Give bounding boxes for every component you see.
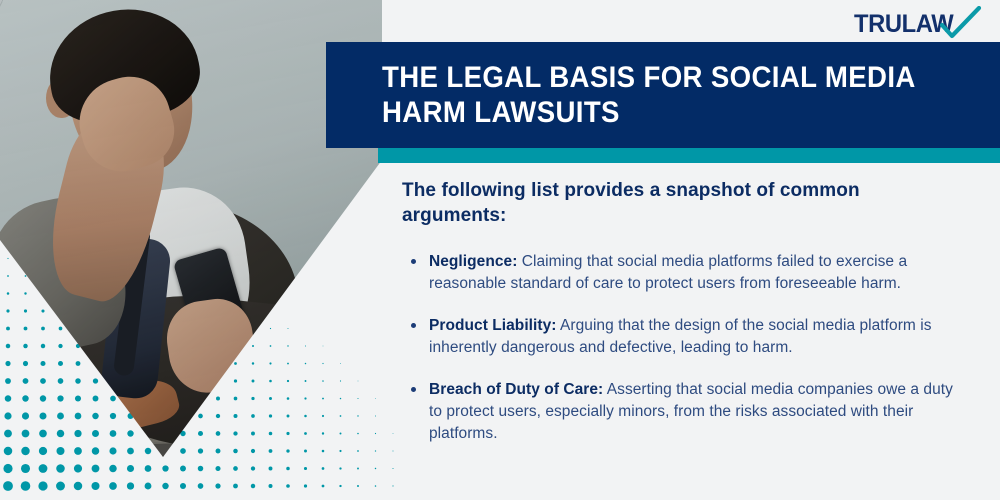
content-column: The following list provides a snapshot o… [402,178,968,445]
list-item-label: Product Liability: [429,317,557,334]
list-item: Breach of Duty of Care: Asserting that s… [402,379,968,445]
checkmark-icon [940,6,982,40]
list-item-label: Breach of Duty of Care: [429,381,603,398]
teal-accent-bar [378,148,1000,163]
arguments-list: Negligence: Claiming that social media p… [402,251,968,445]
photo-color-tint [0,0,382,500]
list-item: Negligence: Claiming that social media p… [402,251,968,295]
page-title: THE LEGAL BASIS FOR SOCIAL MEDIA HARM LA… [382,60,951,131]
hero-photo-image [0,0,382,500]
photo-stair-edge [150,428,382,444]
brand-logo[interactable]: TRULAW [854,8,982,42]
infographic-canvas: THE LEGAL BASIS FOR SOCIAL MEDIA HARM LA… [0,0,1000,500]
list-item: Product Liability: Arguing that the desi… [402,315,968,359]
title-banner: THE LEGAL BASIS FOR SOCIAL MEDIA HARM LA… [326,42,1000,148]
brand-logo-text: TRULAW [854,10,953,39]
hero-photo [0,0,382,500]
content-subtitle: The following list provides a snapshot o… [402,178,872,229]
list-item-label: Negligence: [429,253,517,270]
